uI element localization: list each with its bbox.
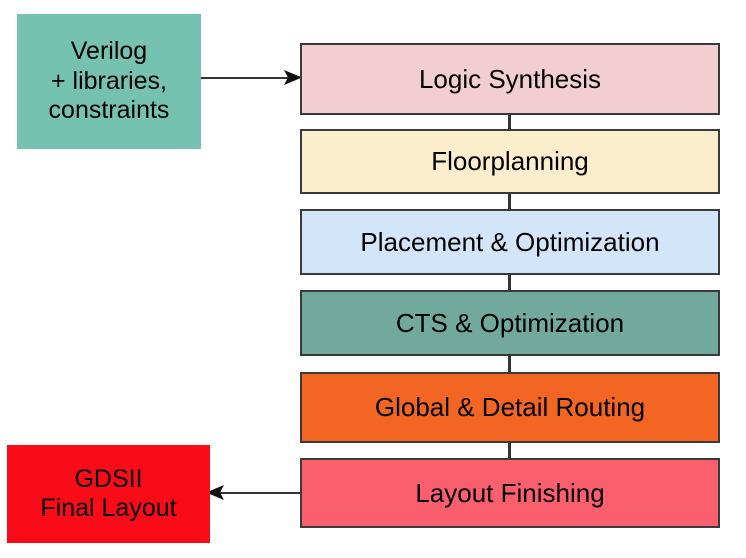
design-flow-diagram: Verilog + libraries, constraints Logic S… bbox=[0, 0, 746, 558]
node-gdsii-output[interactable]: GDSII Final Layout bbox=[7, 445, 210, 543]
node-global-detail-routing[interactable]: Global & Detail Routing bbox=[300, 372, 720, 443]
connector-verilog-synthesis bbox=[201, 77, 291, 79]
node-logic-synthesis[interactable]: Logic Synthesis bbox=[300, 43, 720, 115]
node-verilog-input[interactable]: Verilog + libraries, constraints bbox=[17, 14, 201, 149]
node-floorplanning[interactable]: Floorplanning bbox=[300, 129, 720, 194]
node-cts-optimization[interactable]: CTS & Optimization bbox=[300, 290, 720, 356]
node-placement-optimization[interactable]: Placement & Optimization bbox=[300, 209, 720, 275]
connector-finishing-gdsii bbox=[218, 492, 300, 494]
node-layout-finishing[interactable]: Layout Finishing bbox=[300, 458, 720, 528]
